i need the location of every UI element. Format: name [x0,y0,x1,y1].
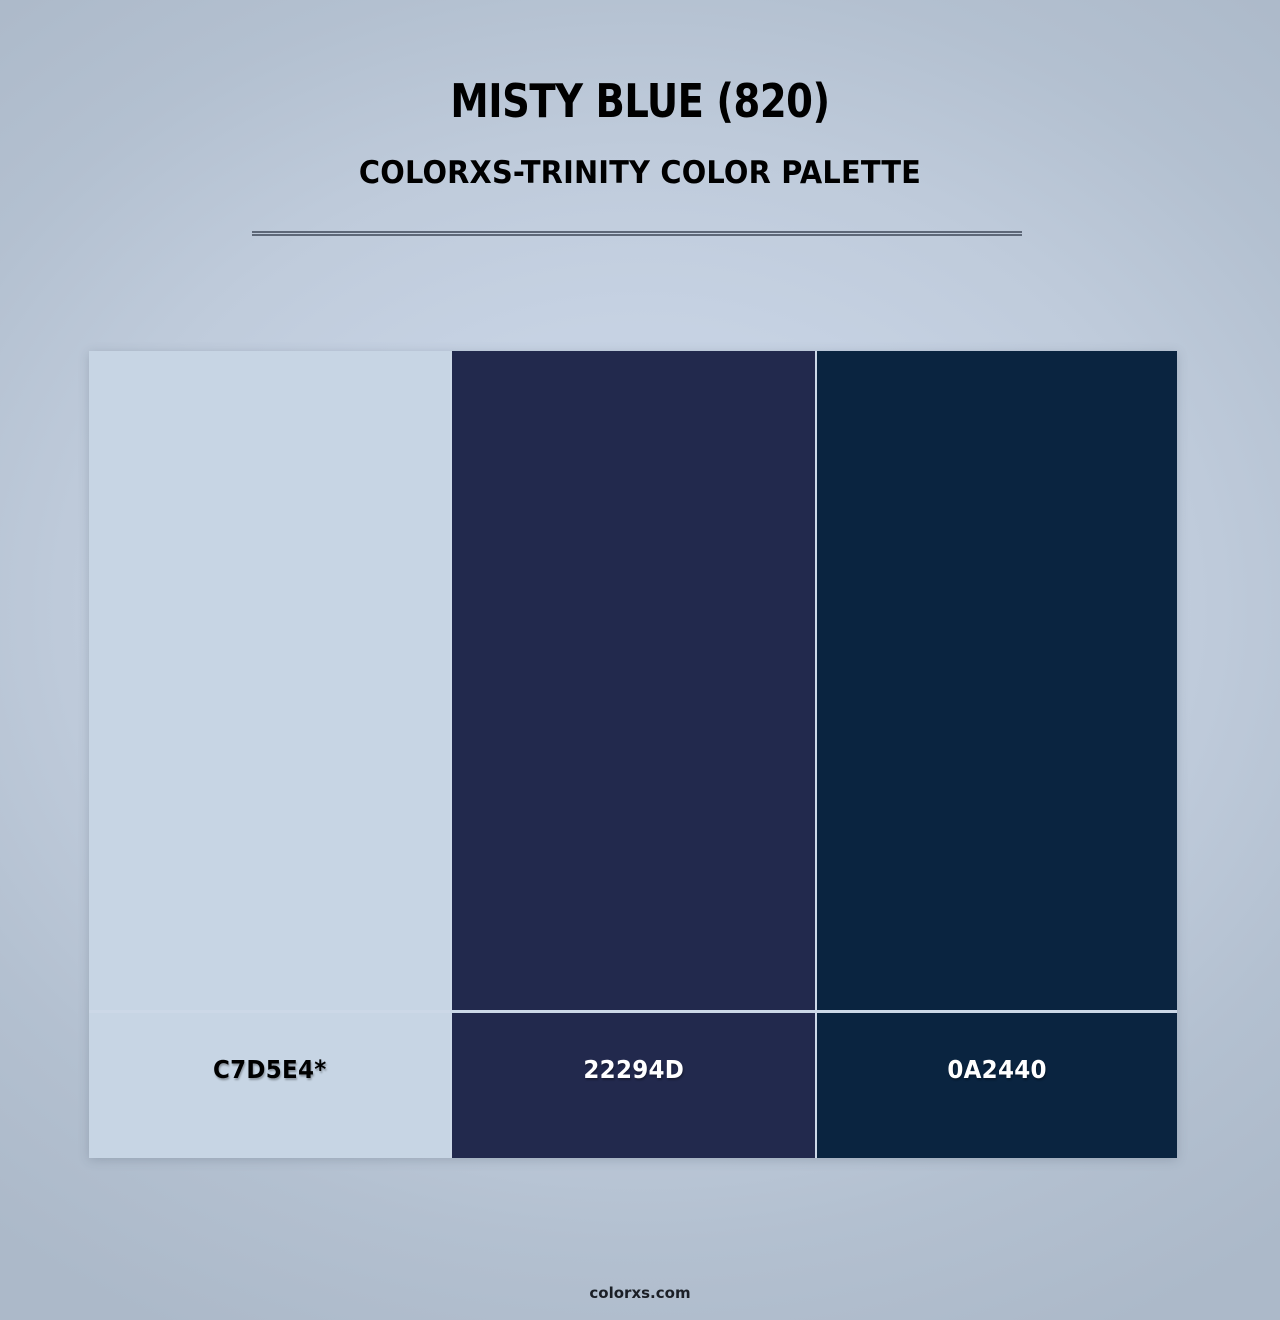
color-swatch-1[interactable] [89,351,450,1010]
color-swatch-2[interactable] [450,351,815,1010]
color-label-cell-3[interactable]: 0A2440 [815,1013,1177,1158]
hex-label-2: 22294D [583,1055,684,1084]
page-background: MISTY BLUE (820) COLORXS-TRINITY COLOR P… [0,0,1280,1320]
divider-line-bottom [252,234,1022,236]
header: MISTY BLUE (820) COLORXS-TRINITY COLOR P… [0,0,1280,189]
color-label-cell-2[interactable]: 22294D [450,1013,815,1158]
swatch-row [89,351,1177,1010]
page-subtitle: COLORXS-TRINITY COLOR PALETTE [45,124,1235,189]
label-row: C7D5E4* 22294D 0A2440 [89,1010,1177,1158]
palette-card: C7D5E4* 22294D 0A2440 [89,351,1177,1158]
header-divider [252,231,1022,236]
hex-label-1: C7D5E4* [213,1055,327,1084]
footer-site-label: colorxs.com [0,1284,1280,1302]
hex-label-3: 0A2440 [947,1055,1046,1084]
color-swatch-3[interactable] [815,351,1177,1010]
color-label-cell-1[interactable]: C7D5E4* [89,1013,450,1158]
page-title: MISTY BLUE (820) [45,0,1235,124]
